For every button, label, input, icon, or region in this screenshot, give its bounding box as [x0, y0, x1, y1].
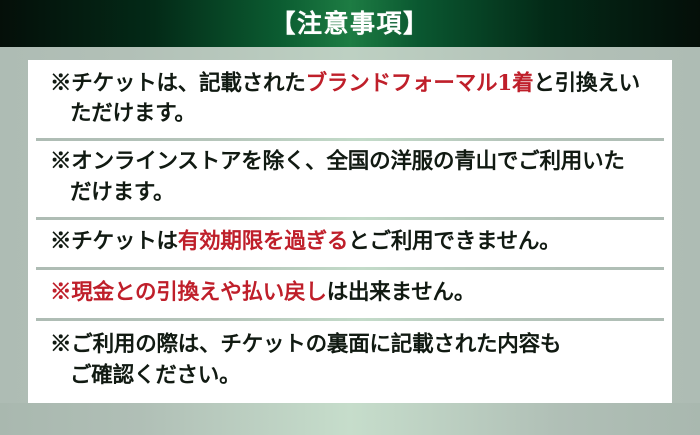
- notice-text-1: ※チケットは、記載されたブランドフォーマル1着と引換えいただけます。: [50, 69, 640, 130]
- footer-gradient-strip: [0, 403, 700, 435]
- notice-text-3: ※チケットは有効期限を過ぎるとご利用できません。: [50, 227, 561, 258]
- notice-1-line1-lead: ※チケットは、記載された: [50, 71, 306, 96]
- notice-3-highlight: 有効期限を過ぎる: [178, 229, 348, 254]
- list-item: ※チケットは有効期限を過ぎるとご利用できません。: [28, 217, 672, 268]
- notice-text-4: ※現金との引換えや払い戻しは出来ません。: [50, 278, 475, 309]
- page-title: 【注意事項】: [270, 11, 429, 36]
- notice-panel: 【注意事項】 ※チケットは、記載されたブランドフォーマル1着と引換えいただけます…: [0, 0, 700, 435]
- notice-3-prefix: ※チケットは: [50, 229, 178, 254]
- notice-1-line1-tail: と引換えい: [533, 71, 640, 96]
- notice-2-line1: ※オンラインストアを除く、全国の洋服の青山でご利用いた: [50, 149, 625, 174]
- notice-list: ※チケットは、記載されたブランドフォーマル1着と引換えいただけます。 ※オンライ…: [28, 60, 672, 403]
- notice-text-2: ※オンラインストアを除く、全国の洋服の青山でご利用いただけます。: [50, 147, 625, 208]
- notice-text-5: ※ご利用の際は、チケットの裏面に記載された内容もご確認ください。: [50, 330, 561, 391]
- notice-3-suffix: とご利用できません。: [348, 229, 560, 254]
- notice-4-highlight: 現金との引換えや払い戻し: [71, 280, 326, 305]
- notice-5-line2: ご確認ください。: [50, 361, 561, 392]
- notice-4-suffix: は出来ません。: [327, 280, 475, 305]
- notice-1-line2: ただけます。: [50, 99, 640, 130]
- list-item: ※ご利用の際は、チケットの裏面に記載された内容もご確認ください。: [28, 318, 672, 403]
- notice-4-marker: ※: [50, 280, 71, 305]
- list-item: ※オンラインストアを除く、全国の洋服の青山でご利用いただけます。: [28, 138, 672, 216]
- notice-1-highlight: ブランドフォーマル1着: [306, 71, 534, 96]
- list-item: ※チケットは、記載されたブランドフォーマル1着と引換えいただけます。: [28, 60, 672, 138]
- notice-2-line2: だけます。: [50, 178, 625, 209]
- list-item: ※現金との引換えや払い戻しは出来ません。: [28, 267, 672, 318]
- notice-5-line1: ※ご利用の際は、チケットの裏面に記載された内容も: [50, 332, 561, 357]
- notice-header-banner: 【注意事項】: [0, 0, 700, 47]
